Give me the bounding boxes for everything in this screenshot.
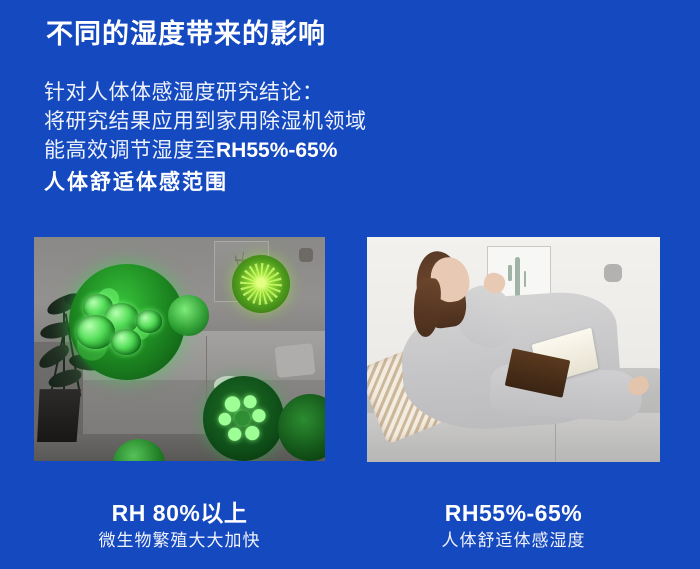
humidity-range-highlight: RH55%-65%	[216, 139, 337, 162]
caption-high-humidity: RH 80%以上 微生物繁殖大大加快	[34, 498, 325, 554]
microbe-small-icon	[168, 295, 209, 335]
sofa-cushion	[274, 343, 315, 378]
caption-title: RH 80%以上	[34, 498, 325, 528]
plant-pot	[37, 389, 81, 442]
virus-sphere-icon	[232, 255, 290, 313]
caption-comfort-humidity: RH55%-65% 人体舒适体感湿度	[367, 498, 660, 554]
photo-comfort-humidity	[367, 237, 660, 462]
body-line-1: 针对人体体感湿度研究结论：	[44, 78, 367, 107]
caption-subtitle: 微生物繁殖大大加快	[34, 528, 325, 554]
caption-title: RH55%-65%	[367, 498, 660, 528]
photo-high-humidity	[34, 237, 325, 461]
bright-room-scene	[367, 237, 660, 462]
body-line-2: 将研究结果应用到家用除湿机领域	[44, 107, 367, 136]
body-copy: 针对人体体感湿度研究结论： 将研究结果应用到家用除湿机领域 能高效调节湿度至RH…	[44, 78, 367, 197]
page-title: 不同的湿度带来的影响	[46, 18, 326, 52]
body-line-3-prefix: 能高效调节湿度至	[44, 139, 216, 162]
wall-knob-icon	[299, 248, 313, 262]
dark-room-scene	[34, 237, 325, 461]
humidity-comparison-poster: 不同的湿度带来的影响 针对人体体感湿度研究结论： 将研究结果应用到家用除湿机领域…	[0, 0, 700, 569]
body-line-3: 能高效调节湿度至RH55%-65%	[44, 136, 367, 165]
microbe-sphere-bottom-icon	[203, 376, 284, 461]
wall-knob-icon	[604, 264, 622, 282]
body-line-4: 人体舒适体感范围	[44, 168, 367, 197]
microbe-cluster-large-icon	[69, 264, 185, 380]
caption-subtitle: 人体舒适体感湿度	[367, 528, 660, 554]
